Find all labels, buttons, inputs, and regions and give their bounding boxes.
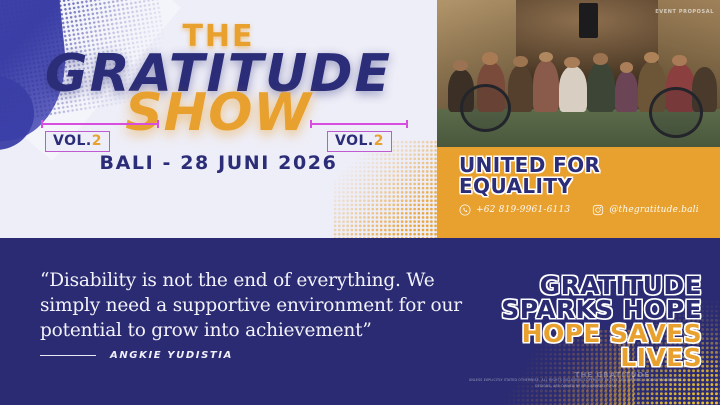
- whatsapp-icon: [459, 204, 471, 216]
- tagline-line-1: UNITED FOR: [459, 155, 600, 176]
- photo-watermark: EVENT PROPOSAL: [655, 9, 714, 15]
- volume-badge-left: VOL.2: [45, 131, 110, 152]
- slogan-line-4: LIVES: [462, 346, 702, 370]
- magenta-rule-right: [310, 123, 408, 125]
- instagram-icon: [592, 204, 604, 216]
- slogan-block: GRATITUDE SPARKS HOPE HOPE SAVES LIVES: [462, 274, 702, 370]
- byline-dash: [40, 355, 96, 356]
- volume-badge-right-number: 2: [374, 133, 384, 149]
- event-photo: EVENT PROPOSAL: [437, 0, 720, 147]
- magenta-rule-left: [41, 123, 159, 125]
- contact-instagram[interactable]: @thegratitude.bali: [592, 204, 699, 216]
- instagram-handle: @thegratitude.bali: [609, 205, 699, 215]
- right-column: EVENT PROPOSAL UNITED FOR EQUALITY +62 8…: [437, 0, 720, 238]
- whatsapp-number: +62 819-9961-6113: [476, 205, 570, 215]
- tagline-heading: UNITED FOR EQUALITY: [459, 155, 600, 197]
- quote-author: ANGKIE YUDISTIA: [110, 350, 233, 361]
- header-panel: THE GRATITUDE SHOW BALI - 28 JUNI 2026 V…: [0, 0, 437, 238]
- photo-wheelchair-right: [649, 87, 703, 138]
- contact-whatsapp[interactable]: +62 819-9961-6113: [459, 204, 570, 216]
- volume-badge-right: VOL.2: [327, 131, 392, 152]
- quote-band: “Disability is not the end of everything…: [0, 238, 720, 405]
- tagline-line-2: EQUALITY: [459, 176, 600, 197]
- legal-disclaimer: UNLESS EXPLICITLY STATED OTHERWISE, ALL …: [462, 377, 690, 389]
- photo-wheelchair-left: [460, 84, 511, 133]
- volume-badge-left-number: 2: [92, 133, 102, 149]
- event-date: BALI - 28 JUNI 2026: [0, 152, 437, 174]
- quote-text: “Disability is not the end of everything…: [40, 269, 475, 343]
- tagline-card: UNITED FOR EQUALITY +62 819-9961-6113: [437, 147, 720, 238]
- volume-badge-left-prefix: VOL.: [53, 133, 92, 149]
- quote-byline: ANGKIE YUDISTIA: [40, 350, 233, 361]
- volume-badge-right-prefix: VOL.: [335, 133, 374, 149]
- contact-list: +62 819-9961-6113 @thegratitude.bali: [459, 204, 699, 216]
- event-proposal-poster: THE GRATITUDE SHOW BALI - 28 JUNI 2026 V…: [0, 0, 720, 405]
